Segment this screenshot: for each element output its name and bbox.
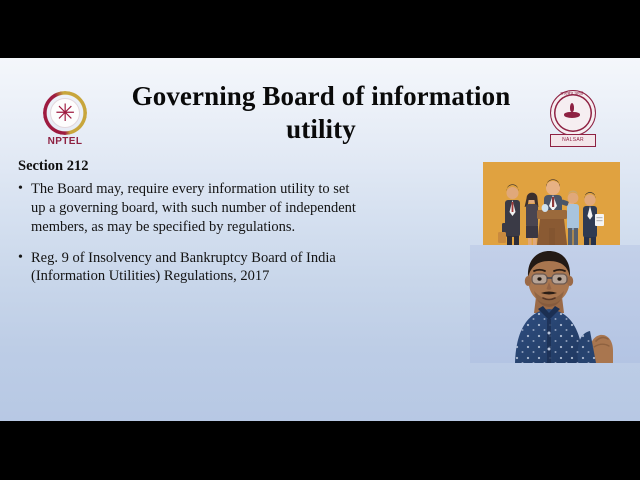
presentation-slide: ✳ NPTEL सत्यमेव जयते NALSAR Governing Bo… (0, 58, 640, 421)
bullet-marker-icon: • (18, 180, 23, 198)
nptel-logo: ✳ NPTEL (36, 91, 94, 153)
seal-base-shape (564, 112, 580, 118)
slide-title-line-1: Governing Board of information (132, 81, 511, 111)
seal-banner-text: NALSAR (550, 134, 596, 147)
bottom-letterbox-bar (0, 421, 640, 480)
nptel-wordmark: NPTEL (36, 136, 94, 147)
nptel-star-icon: ✳ (52, 100, 78, 126)
bullet-text: Reg. 9 of Insolvency and Bankruptcy Boar… (31, 250, 336, 285)
section-heading: Section 212 (18, 158, 88, 175)
institute-seal-logo: सत्यमेव जयते NALSAR (546, 90, 598, 150)
nptel-ring-icon: ✳ (43, 91, 87, 135)
slide-title-line-2: utility (286, 114, 356, 144)
video-frame: ✳ NPTEL सत्यमेव जयते NALSAR Governing Bo… (0, 0, 640, 480)
bullet-item: • Reg. 9 of Insolvency and Bankruptcy Bo… (14, 249, 364, 287)
seal-arc-text: सत्यमेव जयते (552, 91, 592, 97)
bullet-marker-icon: • (18, 249, 23, 267)
presenter-video-overlay (470, 245, 640, 363)
seal-emblem-icon (563, 103, 581, 123)
slide-title: Governing Board of information utility (96, 80, 546, 146)
seal-lamp-shape (570, 103, 574, 112)
bullet-text: The Board may, require every information… (31, 181, 356, 235)
top-letterbox-bar (0, 0, 640, 58)
bullet-item: • The Board may, require every informati… (14, 180, 364, 237)
bullet-list: • The Board may, require every informati… (14, 180, 364, 298)
